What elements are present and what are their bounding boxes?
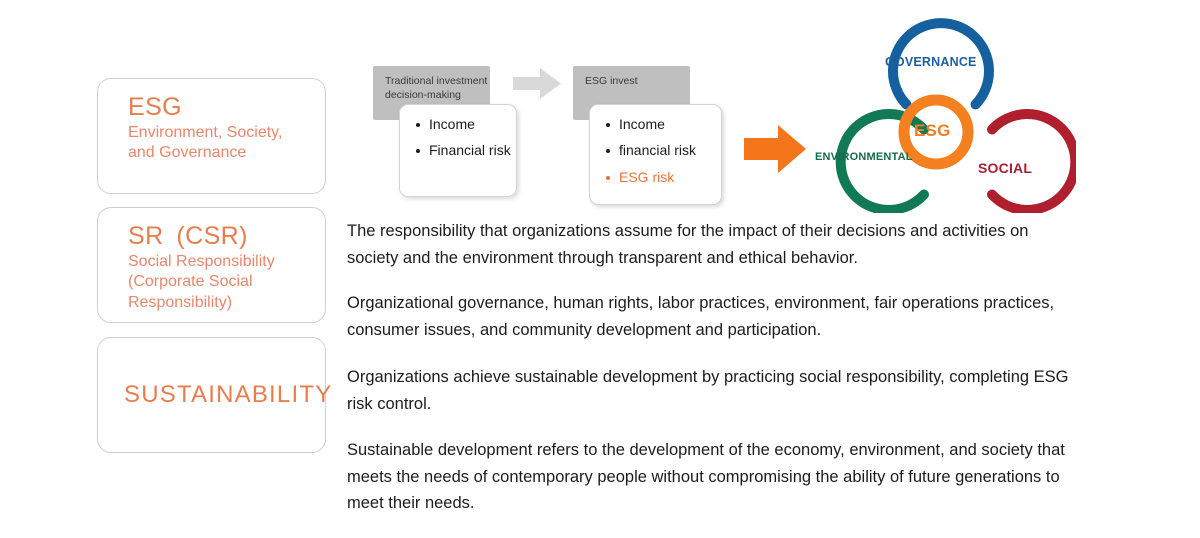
concept-card-sr-title: SR (CSR) (128, 222, 307, 250)
flow-list-esg-invest: Income financial risk ESG risk (604, 117, 711, 185)
social-label: SOCIAL (978, 160, 1032, 176)
concept-card-sr: SR (CSR) Social Responsibility (Corporat… (97, 207, 326, 323)
paragraph-social-responsibility-definition: The responsibility that organizations as… (347, 218, 1071, 271)
arrow-right-orange-icon (744, 125, 806, 173)
list-item: financial risk (604, 143, 711, 158)
concept-card-esg-title: ESG (128, 93, 307, 121)
esg-center-label: ESG (914, 121, 951, 141)
environmental-label: ENVIRONMENTAL (815, 151, 913, 163)
list-item: Financial risk (414, 143, 506, 158)
esg-ring-diagram: GOVERNANCE ENVIRONMENTAL SOCIAL ESG (806, 8, 1076, 213)
paragraph-core-subjects: Organizational governance, human rights,… (347, 290, 1071, 343)
concept-card-esg: ESG Environment, Society, and Governance (97, 78, 326, 194)
list-item: Income (414, 117, 506, 132)
flow-card-esg-invest: Income financial risk ESG risk (589, 104, 722, 205)
concept-card-sustainability: SUSTAINABILITY (97, 337, 326, 453)
flow-list-traditional: Income Financial risk (414, 117, 506, 159)
list-item-esg-risk: ESG risk (604, 170, 711, 185)
paragraph-sustainable-development-definition: Sustainable development refers to the de… (347, 437, 1082, 517)
concept-card-sr-subtitle: Social Responsibility (Corporate Social … (128, 252, 307, 313)
flow-card-traditional: Income Financial risk (399, 104, 517, 197)
concept-card-sustainability-title: SUSTAINABILITY (124, 382, 332, 409)
arrow-right-icon (513, 68, 561, 99)
concept-card-esg-subtitle: Environment, Society, and Governance (128, 123, 307, 164)
paragraph-sustainable-development-practice: Organizations achieve sustainable develo… (347, 364, 1071, 417)
list-item: Income (604, 117, 711, 132)
esg-rings-svg (806, 8, 1076, 213)
governance-label: GOVERNANCE (885, 55, 977, 69)
